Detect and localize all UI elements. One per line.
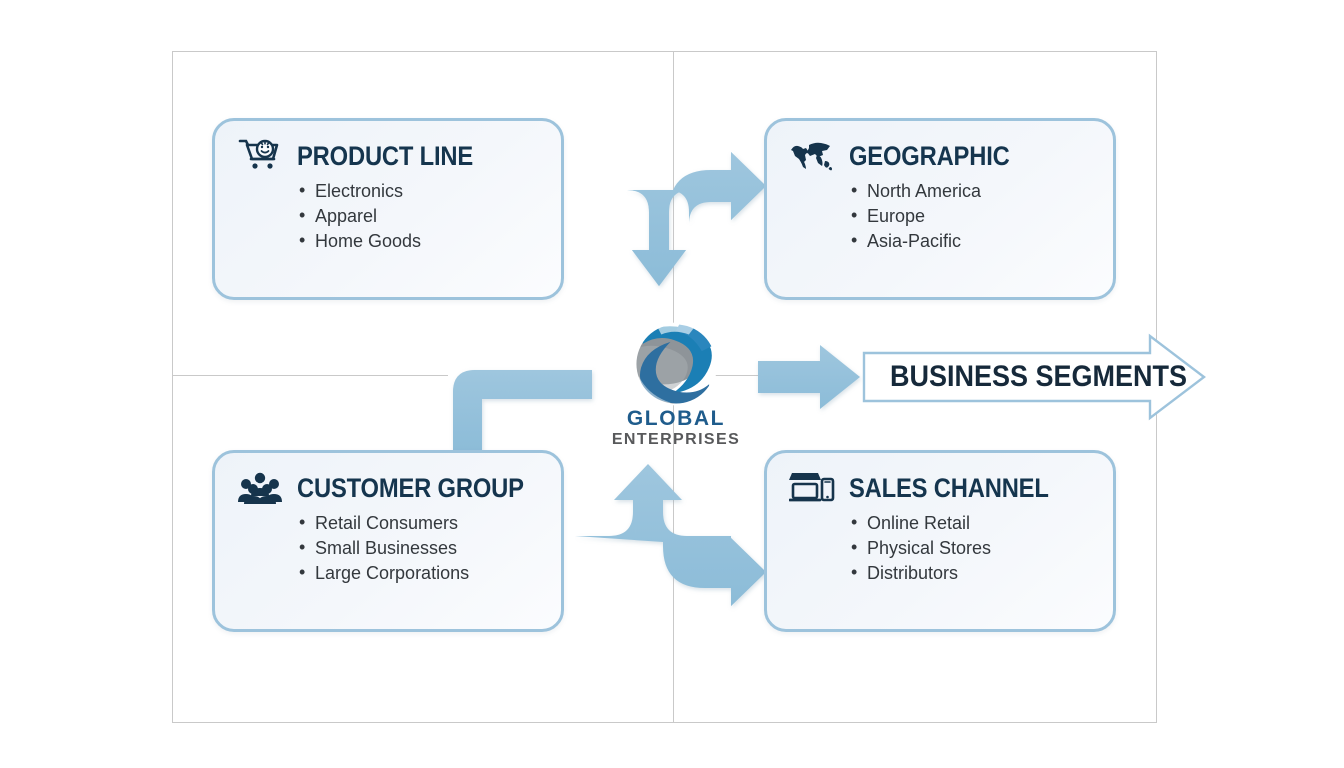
shopping-cart-icon xyxy=(237,136,283,176)
card-item-list: Retail Consumers Small Businesses Large … xyxy=(215,511,561,586)
business-segments-banner[interactable]: BUSINESS SEGMENTS xyxy=(862,333,1207,421)
card-title: CUSTOMER GROUP xyxy=(297,473,524,504)
people-group-icon xyxy=(237,468,283,508)
card-title: SALES CHANNEL xyxy=(849,473,1049,504)
storefront-devices-icon xyxy=(789,468,835,508)
list-item: Europe xyxy=(851,204,1113,229)
card-item-list: Online Retail Physical Stores Distributo… xyxy=(767,511,1113,586)
company-logo: GLOBAL ENTERPRISES xyxy=(588,318,764,450)
card-item-list: Electronics Apparel Home Goods xyxy=(215,179,561,254)
card-title: PRODUCT LINE xyxy=(297,141,473,172)
card-sales-channel[interactable]: SALES CHANNEL Online Retail Physical Sto… xyxy=(764,450,1116,632)
quadrant-divider-horizontal-left xyxy=(173,375,448,376)
list-item: Electronics xyxy=(299,179,561,204)
list-item: Asia-Pacific xyxy=(851,229,1113,254)
list-item: Online Retail xyxy=(851,511,1113,536)
card-header: GEOGRAPHIC xyxy=(767,121,1113,167)
list-item: Home Goods xyxy=(299,229,561,254)
list-item: Small Businesses xyxy=(299,536,561,561)
globe-sphere-icon xyxy=(630,318,722,410)
list-item: Retail Consumers xyxy=(299,511,561,536)
list-item: Distributors xyxy=(851,561,1113,586)
list-item: North America xyxy=(851,179,1113,204)
card-title: GEOGRAPHIC xyxy=(849,141,1010,172)
diagram-canvas: PRODUCT LINE Electronics Apparel Home Go… xyxy=(0,0,1344,768)
list-item: Apparel xyxy=(299,204,561,229)
card-header: CUSTOMER GROUP xyxy=(215,453,561,499)
card-item-list: North America Europe Asia-Pacific xyxy=(767,179,1113,254)
list-item: Physical Stores xyxy=(851,536,1113,561)
card-product-line[interactable]: PRODUCT LINE Electronics Apparel Home Go… xyxy=(212,118,564,300)
world-map-icon xyxy=(789,136,835,176)
card-geographic[interactable]: GEOGRAPHIC North America Europe Asia-Pac… xyxy=(764,118,1116,300)
banner-label: BUSINESS SEGMENTS xyxy=(890,333,1124,421)
card-header: SALES CHANNEL xyxy=(767,453,1113,499)
logo-name-secondary: ENTERPRISES xyxy=(612,430,740,449)
list-item: Large Corporations xyxy=(299,561,561,586)
card-customer-group[interactable]: CUSTOMER GROUP Retail Consumers Small Bu… xyxy=(212,450,564,632)
card-header: PRODUCT LINE xyxy=(215,121,561,167)
logo-name-primary: GLOBAL xyxy=(627,408,725,430)
